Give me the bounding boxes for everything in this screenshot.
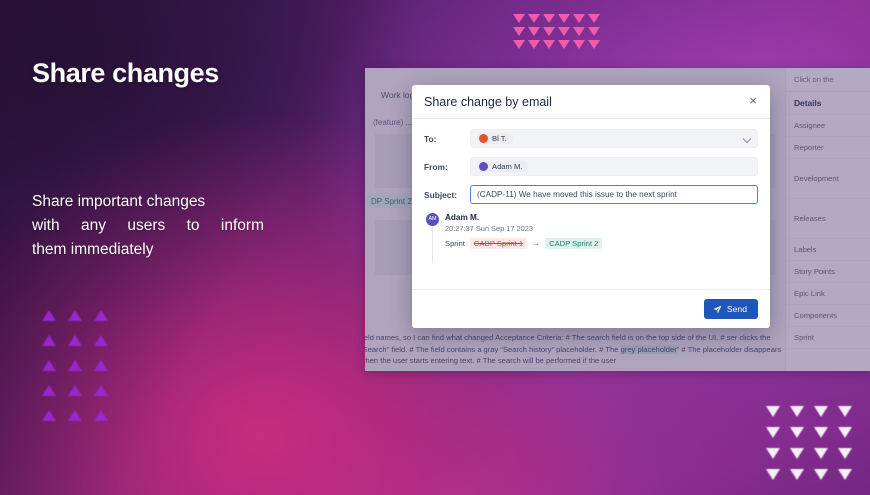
modal-title: Share change by email [424,95,552,109]
triangle-pattern-bottom-right [766,406,862,490]
subcopy-word: inform [221,214,264,238]
subject-value: (CADP-11) We have moved this issue to th… [477,190,677,199]
paper-plane-icon [713,305,722,314]
share-change-modal: Share change by email × To: Bl T. From: [412,85,770,328]
triangle-icon [513,14,525,23]
triangle-icon [42,335,56,346]
triangle-icon [68,410,82,421]
sidebar-item-story-points[interactable]: Story Points [786,261,870,283]
triangle-icon [838,448,852,459]
triangle-icon [790,448,804,459]
triangle-icon [814,406,828,417]
subcopy-word: users [127,214,165,238]
from-label: From: [424,162,470,172]
triangle-icon [42,385,56,396]
triangle-icon [838,406,852,417]
sender-chip: Adam M. [477,161,528,172]
triangle-icon [68,335,82,346]
change-log-body: Adam M. 20:27:37 Sun Sep 17 2023 Sprint … [445,213,758,249]
triangle-icon [528,40,540,49]
triangle-icon [42,360,56,371]
triangle-icon [766,427,780,438]
field-row-from: From: Adam M. [424,157,758,176]
app-feature-text: (feature) ... [373,118,412,127]
triangle-icon [528,14,540,23]
change-field-name: Sprint [445,239,465,248]
app-paragraph-highlight: grey placeholder [621,345,677,354]
field-row-to: To: Bl T. [424,129,758,148]
triangle-icon [573,40,585,49]
sidebar-item-releases[interactable]: Releases [786,199,870,239]
change-log-entry: AM Adam M. 20:27:37 Sun Sep 17 2023 Spri… [424,213,758,249]
timeline-rule [432,228,433,263]
sidebar-item-development[interactable]: Development [786,159,870,199]
triangle-icon [94,410,108,421]
triangle-icon [573,14,585,23]
avatar: AM [426,213,439,226]
change-new-value: CADP Sprint 2 [545,238,602,249]
triangle-icon [94,310,108,321]
change-author: Adam M. [445,213,758,222]
sidebar-item-sprint[interactable]: Sprint [786,327,870,349]
subcopy-word: any [81,214,106,238]
triangle-icon [513,40,525,49]
subcopy-word: to [187,214,200,238]
triangle-pattern-bottom-left [42,310,120,435]
triangle-icon [543,14,555,23]
from-field: Adam M. [470,157,758,176]
modal-body: To: Bl T. From: Adam M. [412,119,770,249]
sidebar-item-reporter[interactable]: Reporter [786,137,870,159]
triangle-icon [558,14,570,23]
recipient-name: Bl T. [492,134,507,143]
triangle-icon [68,360,82,371]
send-button[interactable]: Send [704,299,758,319]
subcopy-line-1: Share important changes [32,190,264,214]
subject-input[interactable]: (CADP-11) We have moved this issue to th… [470,185,758,204]
triangle-icon [68,385,82,396]
triangle-icon [513,27,525,36]
page-subcopy: Share important changes with any users t… [32,190,264,262]
to-label: To: [424,134,470,144]
sidebar-note: Click on the [786,68,870,92]
app-paragraph: field names, so I can find what changed … [365,332,792,367]
modal-footer: Send [412,289,770,328]
triangle-icon [790,406,804,417]
triangle-icon [766,406,780,417]
change-diff: Sprint CADP Sprint 1 → CADP Sprint 2 [445,238,758,249]
triangle-icon [814,448,828,459]
sidebar-item-labels[interactable]: Labels [786,239,870,261]
arrow-right-icon: → [532,239,540,248]
subject-label: Subject: [424,190,470,200]
triangle-icon [94,335,108,346]
triangle-icon [42,410,56,421]
recipient-chip: Bl T. [477,133,513,144]
sidebar-item-epic-link[interactable]: Epic Link [786,283,870,305]
triangle-icon [838,469,852,480]
triangle-icon [588,14,600,23]
sender-name: Adam M. [492,162,522,171]
triangle-pattern-top [513,14,603,53]
triangle-icon [543,27,555,36]
triangle-icon [766,448,780,459]
chevron-down-icon[interactable] [743,135,751,143]
close-icon[interactable]: × [746,94,760,108]
triangle-icon [814,469,828,480]
triangle-icon [838,427,852,438]
field-row-subject: Subject: (CADP-11) We have moved this is… [424,185,758,204]
triangle-icon [790,427,804,438]
triangle-icon [528,27,540,36]
triangle-icon [558,27,570,36]
app-sidebar: Click on the Details Assignee Reporter D… [785,68,870,371]
to-select[interactable]: Bl T. [470,129,758,148]
app-paragraph-part-1: field names, so I can find what changed … [365,333,727,342]
modal-header: Share change by email × [412,85,770,119]
slide-background: Share changes Share important changes wi… [0,0,870,495]
subcopy-word: with [32,214,60,238]
triangle-icon [94,360,108,371]
triangle-icon [790,469,804,480]
triangle-icon [814,427,828,438]
change-old-value: CADP Sprint 1 [470,238,527,249]
avatar [479,162,488,171]
triangle-icon [766,469,780,480]
app-sprint-tag: DP Sprint 2 [367,195,416,208]
avatar [479,134,488,143]
triangle-icon [94,385,108,396]
page-title: Share changes [32,58,219,89]
subcopy-line-2: with any users to inform [32,214,264,238]
sidebar-item-assignee[interactable]: Assignee [786,115,870,137]
app-paragraph-part-3: ” # The placeholder [677,345,742,354]
sidebar-item-components[interactable]: Components [786,305,870,327]
triangle-icon [42,310,56,321]
triangle-icon [68,310,82,321]
change-timestamp: 20:27:37 Sun Sep 17 2023 [445,224,758,233]
sidebar-item-details[interactable]: Details [786,92,870,115]
triangle-icon [588,27,600,36]
subcopy-line-3: them immediately [32,238,264,262]
triangle-icon [558,40,570,49]
triangle-icon [588,40,600,49]
triangle-icon [543,40,555,49]
triangle-icon [573,27,585,36]
send-button-label: Send [727,304,747,314]
